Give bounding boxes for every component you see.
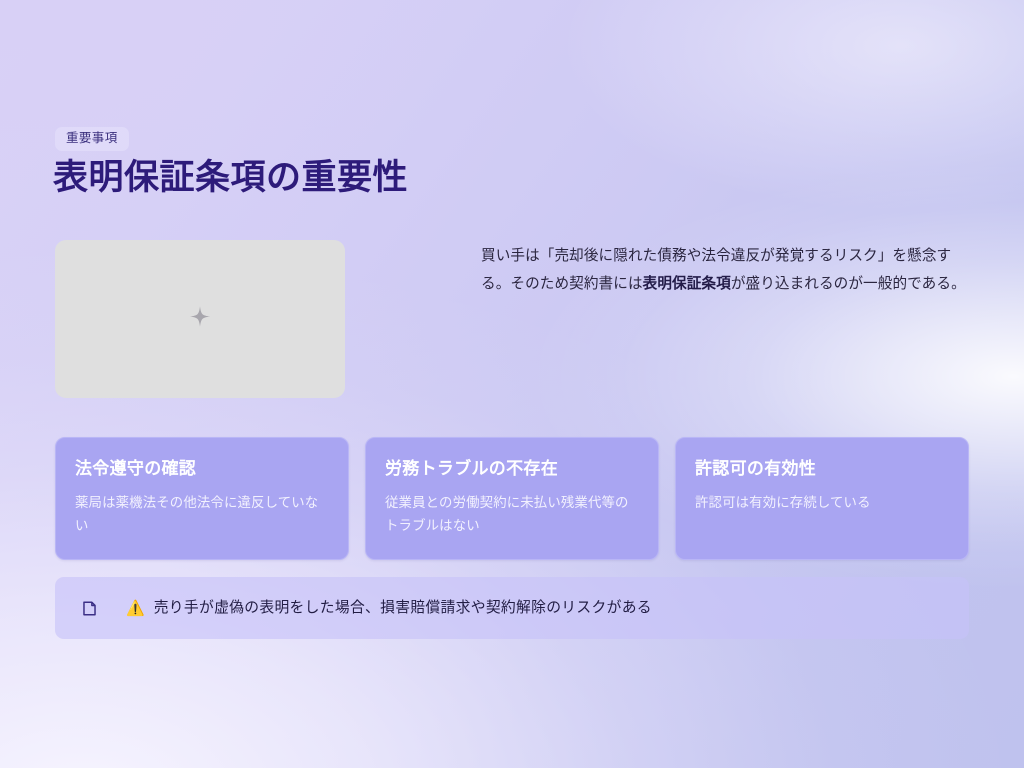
point-card[interactable]: 許認可の有効性 許認可は有効に存続している (675, 437, 969, 560)
hero-row: 買い手は「売却後に隠れた債務や法令違反が発覚するリスク」を懸念する。そのため契約… (55, 240, 969, 398)
hero-paragraph-tail: が盛り込まれるのが一般的である。 (731, 276, 966, 292)
sparkle-icon (185, 304, 215, 334)
callout-bar: ⚠️ 売り手が虚偽の表明をした場合、損害賠償請求や契約解除のリスクがある (55, 577, 969, 639)
warning-icon: ⚠️ (126, 601, 145, 616)
point-card-title: 許認可の有効性 (695, 458, 949, 479)
point-card-title: 労務トラブルの不存在 (385, 458, 639, 479)
image-placeholder (55, 240, 345, 398)
note-icon (81, 600, 98, 617)
point-card-description: 従業員との労働契約に未払い残業代等のトラブルはない (385, 491, 639, 537)
page-title: 表明保証条項の重要性 (53, 158, 408, 199)
point-card-row: 法令遵守の確認 薬局は薬機法その他法令に違反していない 労務トラブルの不存在 従… (55, 437, 969, 560)
hero-paragraph: 買い手は「売却後に隠れた債務や法令違反が発覚するリスク」を懸念する。そのため契約… (481, 240, 969, 299)
callout-text: 売り手が虚偽の表明をした場合、損害賠償請求や契約解除のリスクがある (154, 598, 652, 619)
hero-paragraph-emphasis: 表明保証条項 (643, 276, 731, 292)
point-card-description: 許認可は有効に存続している (695, 491, 949, 514)
point-card[interactable]: 労務トラブルの不存在 従業員との労働契約に未払い残業代等のトラブルはない (365, 437, 659, 560)
slide-root: 重要事項 表明保証条項の重要性 買い手は「売却後に隠れた債務や法令違反が発覚する… (0, 0, 1024, 768)
point-card[interactable]: 法令遵守の確認 薬局は薬機法その他法令に違反していない (55, 437, 349, 560)
point-card-description: 薬局は薬機法その他法令に違反していない (75, 491, 329, 537)
section-badge: 重要事項 (55, 127, 129, 151)
point-card-title: 法令遵守の確認 (75, 458, 329, 479)
